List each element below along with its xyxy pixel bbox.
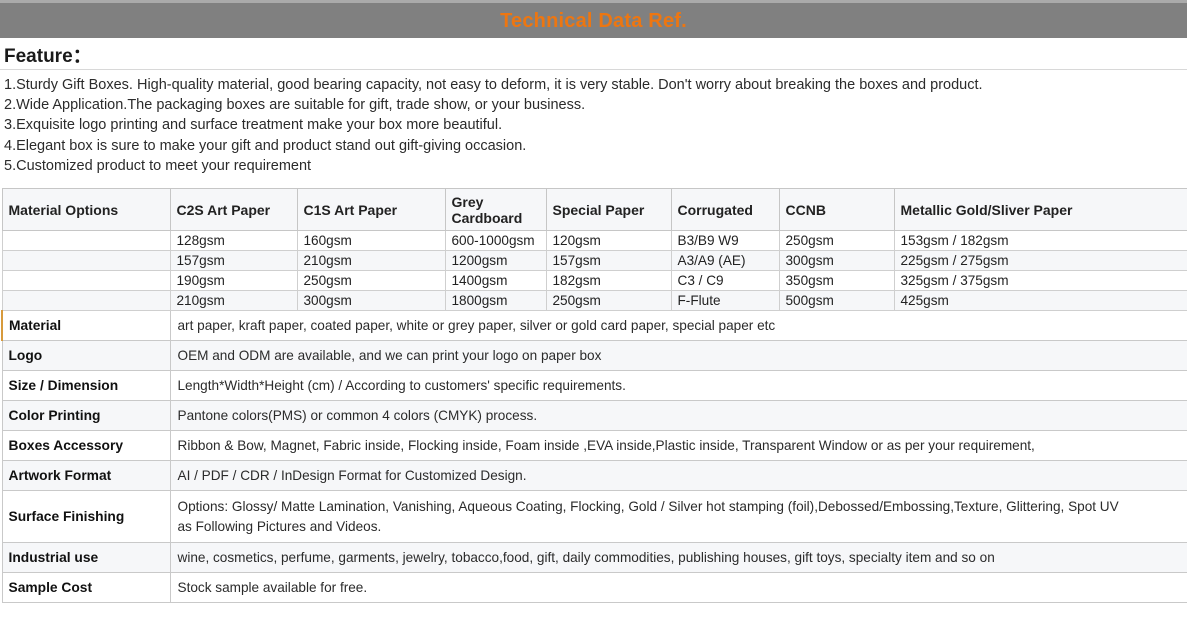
table-row: 190gsm 250gsm 1400gsm 182gsm C3 / C9 350… (2, 271, 1187, 291)
cell: 250gsm (546, 291, 671, 311)
feature-item: 1.Sturdy Gift Boxes. High-quality materi… (4, 75, 1183, 95)
column-header: C1S Art Paper (297, 189, 445, 231)
cell: 225gsm / 275gsm (894, 251, 1187, 271)
column-header: Metallic Gold/Sliver Paper (894, 189, 1187, 231)
table-row: 128gsm 160gsm 600-1000gsm 120gsm B3/B9 W… (2, 231, 1187, 251)
attribute-row-artwork-format: Artwork Format AI / PDF / CDR / InDesign… (2, 461, 1187, 491)
attribute-row-industrial-use: Industrial use wine, cosmetics, perfume,… (2, 543, 1187, 573)
column-header: Special Paper (546, 189, 671, 231)
column-header: Material Options (2, 189, 170, 231)
feature-item: 5.Customized product to meet your requir… (4, 156, 1183, 176)
table-row: 157gsm 210gsm 1200gsm 157gsm A3/A9 (AE) … (2, 251, 1187, 271)
attribute-label: Sample Cost (2, 573, 170, 603)
specification-table: Material Options C2S Art Paper C1S Art P… (1, 188, 1187, 603)
column-header: CCNB (779, 189, 894, 231)
feature-heading: Feature： (0, 38, 1187, 70)
cell: 325gsm / 375gsm (894, 271, 1187, 291)
cell (2, 291, 170, 311)
attribute-label: Surface Finishing (2, 491, 170, 543)
attribute-value: Length*Width*Height (cm) / According to … (170, 371, 1187, 401)
attribute-label: Color Printing (2, 401, 170, 431)
cell: 250gsm (779, 231, 894, 251)
cell: 300gsm (297, 291, 445, 311)
cell: F-Flute (671, 291, 779, 311)
attribute-row-surface-finishing: Surface Finishing Options: Glossy/ Matte… (2, 491, 1187, 543)
feature-list: 1.Sturdy Gift Boxes. High-quality materi… (0, 70, 1187, 184)
attribute-label: Size / Dimension (2, 371, 170, 401)
feature-item: 4.Elegant box is sure to make your gift … (4, 136, 1183, 156)
feature-item: 2.Wide Application.The packaging boxes a… (4, 95, 1183, 115)
cell: 160gsm (297, 231, 445, 251)
cell: 250gsm (297, 271, 445, 291)
cell (2, 231, 170, 251)
attribute-value: Pantone colors(PMS) or common 4 colors (… (170, 401, 1187, 431)
feature-item: 3.Exquisite logo printing and surface tr… (4, 115, 1183, 135)
cell: 210gsm (297, 251, 445, 271)
attribute-value: art paper, kraft paper, coated paper, wh… (170, 311, 1187, 341)
attribute-value: Options: Glossy/ Matte Lamination, Vanis… (170, 491, 1187, 543)
attribute-label: Material (2, 311, 170, 341)
page-title: Technical Data Ref. (500, 11, 687, 31)
attribute-row-color-printing: Color Printing Pantone colors(PMS) or co… (2, 401, 1187, 431)
cell: 300gsm (779, 251, 894, 271)
attribute-value: OEM and ODM are available, and we can pr… (170, 341, 1187, 371)
attribute-row-size-dimension: Size / Dimension Length*Width*Height (cm… (2, 371, 1187, 401)
cell (2, 271, 170, 291)
cell: 1800gsm (445, 291, 546, 311)
cell: 1400gsm (445, 271, 546, 291)
cell: 128gsm (170, 231, 297, 251)
technical-data-page: Technical Data Ref. Feature： 1.Sturdy Gi… (0, 0, 1187, 620)
cell: 1200gsm (445, 251, 546, 271)
cell: B3/B9 W9 (671, 231, 779, 251)
attribute-value-line: as Following Pictures and Videos. (178, 517, 1181, 537)
cell: C3 / C9 (671, 271, 779, 291)
cell: 600-1000gsm (445, 231, 546, 251)
cell: 190gsm (170, 271, 297, 291)
attribute-row-boxes-accessory: Boxes Accessory Ribbon & Bow, Magnet, Fa… (2, 431, 1187, 461)
attribute-value: AI / PDF / CDR / InDesign Format for Cus… (170, 461, 1187, 491)
cell: 182gsm (546, 271, 671, 291)
attribute-label: Artwork Format (2, 461, 170, 491)
attribute-value: wine, cosmetics, perfume, garments, jewe… (170, 543, 1187, 573)
attribute-value: Ribbon & Bow, Magnet, Fabric inside, Flo… (170, 431, 1187, 461)
attribute-label: Industrial use (2, 543, 170, 573)
cell: 210gsm (170, 291, 297, 311)
title-bar: Technical Data Ref. (0, 0, 1187, 38)
cell: 425gsm (894, 291, 1187, 311)
attribute-row-logo: Logo OEM and ODM are available, and we c… (2, 341, 1187, 371)
cell: A3/A9 (AE) (671, 251, 779, 271)
cell (2, 251, 170, 271)
attribute-row-sample-cost: Sample Cost Stock sample available for f… (2, 573, 1187, 603)
column-header: Grey Cardboard (445, 189, 546, 231)
column-header: Corrugated (671, 189, 779, 231)
cell: 157gsm (170, 251, 297, 271)
attribute-value-line: Options: Glossy/ Matte Lamination, Vanis… (178, 497, 1181, 517)
cell: 500gsm (779, 291, 894, 311)
attribute-label: Logo (2, 341, 170, 371)
column-header: C2S Art Paper (170, 189, 297, 231)
cell: 350gsm (779, 271, 894, 291)
cell: 153gsm / 182gsm (894, 231, 1187, 251)
cell: 157gsm (546, 251, 671, 271)
table-header-row: Material Options C2S Art Paper C1S Art P… (2, 189, 1187, 231)
cell: 120gsm (546, 231, 671, 251)
table-row: 210gsm 300gsm 1800gsm 250gsm F-Flute 500… (2, 291, 1187, 311)
attribute-value: Stock sample available for free. (170, 573, 1187, 603)
attribute-row-material: Material art paper, kraft paper, coated … (2, 311, 1187, 341)
attribute-label: Boxes Accessory (2, 431, 170, 461)
